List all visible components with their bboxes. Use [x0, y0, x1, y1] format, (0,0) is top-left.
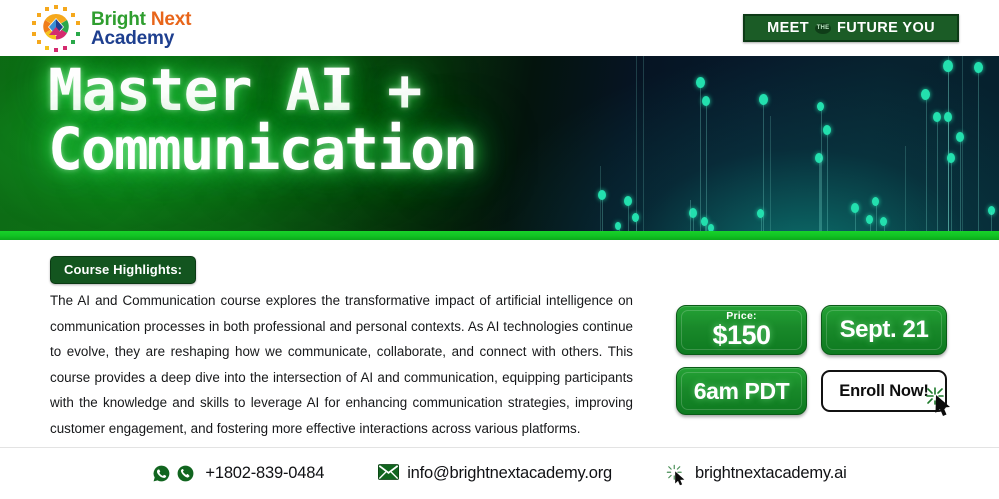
logo-word-academy: Academy — [91, 29, 191, 48]
footer-website-url: brightnextacademy.ai — [695, 464, 847, 483]
price-value: $150 — [712, 322, 770, 349]
footer-website-item[interactable]: brightnextacademy.ai — [666, 464, 847, 484]
brand-logo[interactable]: Bright Next Academy — [30, 4, 191, 54]
click-cursor-icon — [921, 382, 961, 422]
header-bar: Bright Next Academy MEET THE FUTURE YOU — [0, 0, 999, 56]
envelope-icon — [378, 464, 398, 484]
footer-email-address: info@brightnextacademy.org — [407, 464, 612, 483]
content-section: Course Highlights: The AI and Communicat… — [0, 240, 999, 440]
hero-banner: Master AI +Communication — [0, 56, 999, 231]
cta-row-top: Price: $150 Sept. 21 — [676, 305, 976, 355]
badge-word-future-you: FUTURE YOU — [837, 20, 935, 36]
flyer-page: Bright Next Academy MEET THE FUTURE YOU — [0, 0, 999, 499]
footer-phone-number: +1802-839-0484 — [205, 464, 324, 483]
footer-phone-item[interactable]: +1802-839-0484 — [152, 464, 324, 484]
cta-button-group: Price: $150 Sept. 21 6am PDT Enroll Now! — [676, 305, 976, 427]
date-button[interactable]: Sept. 21 — [821, 305, 947, 355]
hero-green-divider — [0, 231, 999, 240]
course-description-paragraph: The AI and Communication course explores… — [50, 288, 633, 441]
footer-email-item[interactable]: info@brightnextacademy.org — [378, 464, 612, 484]
brand-logo-text: Bright Next Academy — [91, 10, 191, 49]
badge-the-pill: THE — [815, 23, 831, 34]
whatsapp-icon — [152, 464, 172, 484]
course-highlights-badge: Course Highlights: — [50, 256, 196, 284]
logo-word-next: Next — [151, 9, 191, 30]
time-value: 6am PDT — [694, 378, 790, 405]
footer-contact-bar: +1802-839-0484 info@brightnextacademy.or… — [0, 447, 999, 499]
date-value: Sept. 21 — [840, 316, 929, 344]
hero-title-line-1: Master AI + — [48, 56, 421, 124]
logo-word-bright: Bright — [91, 9, 151, 30]
click-cursor-icon — [666, 464, 686, 484]
hero-title-line-2: Communication — [48, 115, 476, 183]
price-button[interactable]: Price: $150 — [676, 305, 807, 355]
enroll-now-label: Enroll Now! — [839, 382, 928, 401]
meet-the-future-you-badge[interactable]: MEET THE FUTURE YOU — [743, 14, 959, 42]
cta-row-bottom: 6am PDT Enroll Now! — [676, 367, 976, 415]
badge-word-the: THE — [817, 25, 830, 31]
logo-line-1: Bright Next — [91, 10, 191, 29]
badge-word-meet: MEET — [767, 20, 809, 36]
hero-title: Master AI +Communication — [48, 61, 476, 179]
phone-icon — [176, 464, 196, 484]
phone-icons-group — [152, 464, 196, 484]
enroll-now-button[interactable]: Enroll Now! — [821, 370, 947, 412]
bright-next-academy-logo-icon — [30, 4, 82, 54]
time-button[interactable]: 6am PDT — [676, 367, 807, 415]
